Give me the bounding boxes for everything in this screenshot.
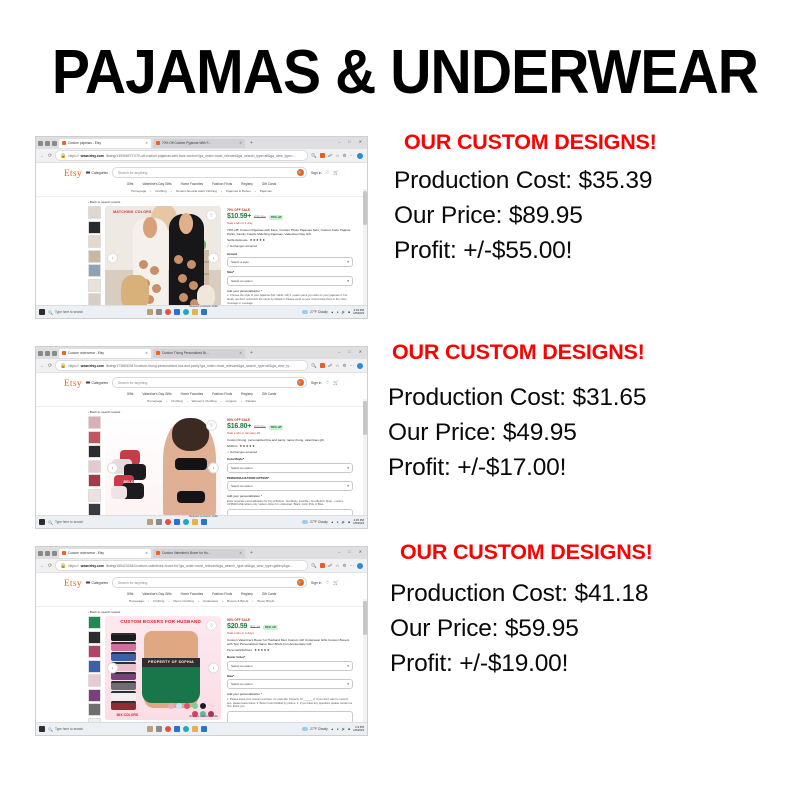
thumbnail[interactable] (88, 221, 101, 234)
volume-icon[interactable]: 🔊 (342, 520, 346, 524)
prev-image-arrow[interactable]: ‹ (107, 663, 118, 674)
more-icon[interactable]: ⋯ (350, 153, 355, 159)
minimize-icon[interactable]: – (338, 349, 342, 354)
nav-item[interactable]: Registry (241, 182, 253, 186)
weather-widget[interactable]: 27°F Cloudy (302, 727, 328, 731)
back-to-results-link[interactable]: ‹ Back to search results (36, 407, 367, 416)
url-domain: www.etsy.com (81, 564, 104, 568)
window-controls[interactable]: – □ ✕ (338, 139, 364, 144)
start-button[interactable] (39, 309, 45, 315)
etsy-page: Etsy Categories Search for anything 🔍 Si… (36, 163, 367, 319)
clock-date: 1/8/2023 (353, 521, 364, 525)
widgets-icon[interactable] (156, 726, 162, 732)
nav-item[interactable]: Valentine's Day Gifts (142, 592, 171, 596)
store-icon[interactable] (174, 309, 180, 315)
breadcrumb-item[interactable]: Clothing (155, 189, 166, 193)
explorer-icon[interactable] (192, 309, 198, 315)
current-price: $16.80+ (227, 423, 251, 430)
sign-in-link[interactable]: Sign in (311, 381, 321, 385)
personalization-label: Add your personalization * (227, 289, 353, 293)
chevron-down-icon: ▾ (347, 664, 349, 668)
search-icon: 🔍 (48, 310, 53, 315)
etsy-logo[interactable]: Etsy (64, 378, 82, 388)
network-icon[interactable]: ● (337, 520, 339, 524)
scrollbar-thumb[interactable] (363, 401, 367, 435)
taskview-icon[interactable] (147, 519, 153, 525)
etsy-favicon (62, 141, 66, 145)
thumbnail-strip[interactable] (88, 416, 99, 529)
collections-icon[interactable]: ☍ (328, 153, 333, 159)
etsy-page: Etsy Categories Search for anything 🔍 Si… (36, 573, 367, 736)
listing-body: BELONGS TO AUSTIN ♡ ‹ › Request a custom… (36, 416, 367, 529)
scrollbar-thumb[interactable] (363, 601, 367, 635)
taskview-icon[interactable] (147, 309, 153, 315)
thumbnail-strip[interactable] (88, 616, 99, 736)
taskbar-search[interactable]: 🔍 Type here to search (48, 727, 144, 732)
option2-select[interactable]: Select an option ▾ (227, 276, 353, 286)
nav-item[interactable]: Registry (241, 592, 253, 596)
system-tray: 27°F Cloudy ▲ ● 🔊 ■ 4:45 PM 1/8/2023 (302, 519, 364, 526)
store-icon[interactable] (174, 726, 180, 732)
search-icon[interactable]: 🔍 (297, 169, 304, 176)
explorer-icon[interactable] (192, 726, 198, 732)
weather-widget[interactable]: 27°F Cloudy (302, 310, 328, 314)
tab-strip: Custom pajamas - Etsy ✕ 70% Off Custom P… (36, 137, 367, 149)
product-title: Custom thong, personalized bra and panty… (227, 438, 353, 442)
battery-icon[interactable]: ■ (348, 727, 350, 731)
split-screen-icon[interactable] (52, 551, 57, 556)
price-row: $16.80+ $33.60+ 50% off (227, 423, 353, 430)
breadcrumb-item[interactable]: Gender-Neutral Adult Clothing (176, 189, 217, 193)
taskbar-search-placeholder: Type here to search (55, 520, 83, 524)
lingerie-scene: BELONGS TO AUSTIN (105, 416, 221, 520)
breadcrumb-item[interactable]: Lingerie (226, 399, 237, 403)
close-window-icon[interactable]: ✕ (359, 139, 364, 144)
etsy-logo[interactable]: Etsy (64, 578, 82, 588)
variant (111, 681, 137, 690)
back-icon[interactable]: ← (40, 563, 45, 569)
profile-avatar[interactable] (357, 563, 363, 569)
taskbar-search[interactable]: 🔍 Type here to search (48, 520, 144, 525)
system-tray: 27°F Cloudy ▲ ● 🔊 ■ 4:33 PM 1/8/2023 (302, 309, 364, 316)
mail-icon[interactable] (201, 309, 207, 315)
thumbnail[interactable] (88, 279, 101, 292)
clock[interactable]: 4:45 PM 1/8/2023 (353, 519, 364, 526)
mail-icon[interactable] (201, 726, 207, 732)
favorite-icon[interactable]: ♡ (206, 210, 217, 221)
breadcrumb-item[interactable]: Women's Clothing (192, 399, 217, 403)
custom-face (179, 213, 193, 234)
settings-icon[interactable]: ⚙ (342, 363, 346, 369)
tab-search-icon[interactable] (45, 351, 50, 356)
nav-item[interactable]: Registry (241, 392, 253, 396)
discount-badge: 70% off (269, 215, 284, 220)
battery-icon[interactable]: ■ (348, 310, 350, 314)
network-icon[interactable]: ● (337, 310, 339, 314)
battery-icon[interactable]: ■ (348, 520, 350, 524)
prev-image-arrow[interactable]: ‹ (107, 463, 118, 474)
request-custom-order-link[interactable]: Request a custom order (189, 715, 218, 718)
tab-search-icon[interactable] (45, 551, 50, 556)
tab-label: Custom underwear - Etsy (68, 351, 104, 355)
store-icon[interactable] (174, 519, 180, 525)
maximize-icon[interactable]: □ (348, 349, 352, 354)
close-icon[interactable]: ✕ (239, 551, 242, 555)
pajama-scene: MATCHING COLORS (105, 206, 221, 310)
thumbnail[interactable] (88, 460, 101, 473)
buy-box: 50% OFF SALE $16.80+ $33.60+ 50% off Sal… (227, 416, 353, 529)
breadcrumb-item[interactable]: Panties (246, 399, 256, 403)
rating-stars: ★★★★★ (240, 444, 256, 448)
taskview-icon[interactable] (147, 726, 153, 732)
etsy-favicon (156, 141, 160, 145)
breadcrumb-item[interactable]: Clothing (153, 599, 164, 603)
window-controls[interactable]: – □ ✕ (338, 549, 364, 554)
back-icon[interactable]: ← (40, 363, 45, 369)
settings-icon[interactable]: ⚙ (342, 563, 346, 569)
settings-icon[interactable]: ⚙ (342, 153, 346, 159)
new-tab-button[interactable]: + (250, 350, 253, 356)
thumbnail[interactable] (88, 689, 101, 702)
zoom-icon[interactable]: 🔍 (311, 363, 317, 369)
shop-row: SetSmileHouse ★★★★★ (227, 238, 353, 242)
shop-row: NMFirst ★★★★★ (227, 444, 353, 448)
tab-actions-icon[interactable] (38, 551, 43, 556)
favorites-icon[interactable]: ♡ (325, 580, 329, 586)
explorer-icon[interactable] (192, 519, 198, 525)
prev-image-arrow[interactable]: ‹ (107, 253, 118, 264)
page-scrollbar[interactable] (363, 189, 367, 319)
exchanges-note: ✓ Exchanges accepted (227, 244, 353, 248)
tab-label: Custom Valentine's Boxer for Hu... (162, 551, 211, 555)
tab-label: 70% Off Custom Pyjamas With F... (162, 141, 211, 145)
next-image-arrow[interactable]: › (208, 253, 219, 264)
nav-item[interactable]: Gift Cards (262, 592, 276, 596)
boxer-scene: CUSTOM BOXERS FOR HUSBAND (105, 616, 221, 720)
tab-inactive[interactable]: Custom Valentine's Boxer for Hu... ✕ (153, 549, 245, 558)
cloud-icon (302, 727, 308, 731)
rating-stars: ★★★★★ (254, 648, 270, 652)
nav-item[interactable]: Fashion Finds (212, 592, 232, 596)
profile-avatar[interactable] (357, 363, 363, 369)
search-icon: 🔍 (48, 520, 53, 525)
search-input[interactable]: Search for anything 🔍 (112, 167, 307, 178)
start-button[interactable] (39, 519, 45, 525)
chrome-icon[interactable] (165, 309, 171, 315)
etsy-nav: Gifts Valentine's Day Gifts Home Favorit… (36, 590, 367, 597)
cart-icon[interactable]: 🛒 (333, 170, 339, 176)
address-bar: ← ⟳ 🔒 https:// www.etsy.com /listing/165… (36, 559, 367, 573)
clock-date: 1/8/2023 (353, 311, 364, 315)
thumbnail[interactable] (88, 631, 101, 644)
shop-name[interactable]: PersonalGiftsStore (227, 648, 252, 652)
edge-icon[interactable] (183, 726, 189, 732)
edge-icon[interactable] (183, 519, 189, 525)
nav-item[interactable]: Fashion Finds (212, 392, 232, 396)
breadcrumb-item[interactable]: Homepage (131, 189, 146, 193)
thumbnail[interactable] (88, 474, 101, 487)
categories-button[interactable]: Categories (86, 171, 108, 175)
search-input[interactable]: Search for anything 🔍 (112, 377, 307, 388)
more-icon[interactable]: ⋯ (350, 563, 355, 569)
more-icon[interactable]: ⋯ (350, 363, 355, 369)
categories-button[interactable]: Categories (86, 381, 108, 385)
close-icon[interactable]: ✕ (145, 141, 148, 145)
back-to-results-link[interactable]: ‹ Back to search results (36, 607, 367, 616)
breadcrumb-item[interactable]: Pajamas (260, 189, 272, 193)
close-icon[interactable]: ✕ (145, 351, 148, 355)
thumbnail[interactable] (88, 235, 101, 248)
search-icon: 🔍 (48, 727, 53, 732)
close-icon[interactable]: ✕ (239, 141, 242, 145)
close-icon[interactable]: ✕ (239, 351, 242, 355)
cloud-icon (302, 520, 308, 524)
thumbnail[interactable] (88, 264, 101, 277)
tab-inactive[interactable]: Custom Thong Personalized Br... ✕ (153, 349, 245, 358)
breadcrumb-item[interactable]: Pajamas & Robes (226, 189, 251, 193)
breadcrumb-item[interactable]: Underwear (203, 599, 218, 603)
close-window-icon[interactable]: ✕ (359, 349, 364, 354)
breadcrumb-item[interactable]: Homepage (147, 399, 162, 403)
option1-select[interactable]: Select an option ▾ (227, 661, 353, 671)
headline: OUR CUSTOM DESIGNS! (388, 340, 788, 364)
search-placeholder: Search for anything (118, 381, 147, 385)
product-hero-image[interactable]: CUSTOM BOXERS FOR HUSBAND (105, 616, 221, 720)
nav-item[interactable]: Home Favorites (181, 592, 204, 596)
system-tray: 27°F Cloudy ▲ ● 🔊 ■ 1:9 PM 1/8/2023 (302, 726, 364, 733)
sale-tag: 70% OFF SALE (227, 208, 353, 212)
volume-icon[interactable]: 🔊 (342, 310, 346, 314)
product-hero-image[interactable]: MATCHING COLORS ♡ ‹ › Request a custom o… (105, 206, 221, 310)
tab-inactive[interactable]: 70% Off Custom Pyjamas With F... ✕ (153, 139, 245, 148)
url-input[interactable]: 🔒 https:// www.etsy.com /listing/1654232… (55, 560, 308, 571)
extensions-icon[interactable] (320, 153, 325, 158)
tray-expand-icon[interactable]: ▲ (331, 310, 334, 314)
split-screen-icon[interactable] (52, 351, 57, 356)
search-input[interactable]: Search for anything 🔍 (112, 577, 307, 588)
chrome-icon[interactable] (165, 726, 171, 732)
etsy-nav: Gifts Valentine's Day Gifts Home Favorit… (36, 390, 367, 397)
minimize-icon[interactable]: – (338, 549, 342, 554)
widgets-icon[interactable] (156, 309, 162, 315)
clock[interactable]: 1:9 PM 1/8/2023 (353, 726, 364, 733)
reload-icon[interactable]: ⟳ (48, 363, 52, 369)
option1-label: Boxer Color* (227, 655, 353, 659)
window-controls[interactable]: – □ ✕ (338, 349, 364, 354)
address-bar: ← ⟳ 🔒 https:// www.etsy.com /listing/173… (36, 359, 367, 373)
clock[interactable]: 4:33 PM 1/8/2023 (353, 309, 364, 316)
etsy-favicon (62, 351, 66, 355)
text-block-1: OUR CUSTOM DESIGNS! Production Cost: $35… (388, 130, 788, 268)
mix-colors-text: MIX COLORS (117, 714, 138, 718)
maximize-icon[interactable]: □ (348, 139, 352, 144)
thumbnail-strip[interactable] (88, 206, 99, 319)
network-icon[interactable]: ● (337, 727, 339, 731)
address-bar: ← ⟳ 🔒 https:// www.etsy.com /listing/139… (36, 149, 367, 163)
listing-body: MATCHING COLORS ♡ ‹ › Request a custom o… (36, 206, 367, 319)
next-image-arrow[interactable]: › (208, 663, 219, 674)
close-window-icon[interactable]: ✕ (359, 549, 364, 554)
taskbar-search-placeholder: Type here to search (55, 727, 83, 731)
request-custom-order-link[interactable]: Request a custom order (189, 515, 218, 518)
tab-actions-icon[interactable] (38, 351, 43, 356)
extensions-icon[interactable] (320, 563, 325, 568)
favorite-icon[interactable]: ♡ (206, 420, 217, 431)
favorite-icon[interactable]: ☆ (335, 363, 339, 369)
nav-item[interactable]: Home Favorites (181, 182, 204, 186)
hero-banner-text: BELONGS TO AUSTIN (124, 480, 163, 485)
shop-name[interactable]: SetSmileHouse (227, 238, 248, 242)
personalization-help: 1. Choose the style of your pajamas (kid… (227, 294, 353, 305)
tray-expand-icon[interactable]: ▲ (331, 727, 334, 731)
nav-item[interactable]: Gift Cards (262, 392, 276, 396)
minimize-icon[interactable]: – (338, 139, 342, 144)
nav-item[interactable]: Valentine's Day Gifts (142, 182, 171, 186)
tab-active[interactable]: Custom pajamas - Etsy ✕ (59, 139, 151, 148)
taskbar-search-placeholder: Type here to search (55, 310, 83, 314)
option1-select[interactable]: Select a style ▾ (227, 257, 353, 267)
breadcrumb-item[interactable]: Clothing (171, 399, 182, 403)
url-path: /listing/1393069717/70-off-custom-pajama… (106, 154, 296, 158)
option2-label: Size* (227, 674, 353, 678)
search-icon[interactable]: 🔍 (297, 579, 304, 586)
option1-select[interactable]: Select an option ▾ (227, 463, 353, 473)
breadcrumb-item[interactable]: Boxers & Briefs (227, 599, 248, 603)
buy-box: 70% OFF SALE $10.59+ $35.30+ 70% off Sal… (227, 206, 353, 319)
profile-avatar[interactable] (357, 153, 363, 159)
breadcrumb-item[interactable]: Boxer Briefs (257, 599, 274, 603)
cart-icon[interactable]: 🛒 (333, 580, 339, 586)
reload-icon[interactable]: ⟳ (48, 153, 52, 159)
cart-icon[interactable]: 🛒 (333, 380, 339, 386)
browser-window-2: Custom underwear - Etsy ✕ Custom Thong P… (35, 346, 368, 529)
breadcrumb-item[interactable]: Men's Clothing (173, 599, 193, 603)
nav-item[interactable]: Gifts (127, 392, 134, 396)
chrome-icon[interactable] (165, 519, 171, 525)
new-tab-button[interactable]: + (250, 140, 253, 146)
collections-icon[interactable]: ☍ (328, 363, 333, 369)
product-title: Custom Valentine's Boxer for Husband Men… (227, 638, 353, 647)
tab-actions-icon[interactable] (38, 141, 43, 146)
split-screen-icon[interactable] (52, 141, 57, 146)
reload-icon[interactable]: ⟳ (48, 563, 52, 569)
sign-in-link[interactable]: Sign in (311, 171, 321, 175)
etsy-logo[interactable]: Etsy (64, 168, 82, 178)
categories-button[interactable]: Categories (86, 581, 108, 585)
model-hair (172, 418, 209, 451)
exchanges-note: ✓ Exchanges accepted (227, 450, 353, 454)
page-scrollbar[interactable] (363, 599, 367, 736)
back-to-results-link[interactable]: ‹ Back to search results (36, 197, 367, 206)
request-custom-order-link[interactable]: Request a custom order (189, 305, 218, 308)
breadcrumb-item[interactable]: Homepage (129, 599, 144, 603)
back-icon[interactable]: ← (40, 153, 45, 159)
thumbnail[interactable] (88, 416, 101, 429)
option2-select[interactable]: Select an option ▾ (227, 481, 353, 491)
thumbnail[interactable] (88, 660, 101, 673)
custom-face (143, 217, 157, 237)
categories-label: Categories (92, 171, 108, 175)
thumbnail[interactable] (88, 616, 101, 629)
product-hero-image[interactable]: BELONGS TO AUSTIN ♡ ‹ › Request a custom… (105, 416, 221, 520)
tab-strip: Custom underwear - Etsy ✕ Custom Thong P… (36, 347, 367, 359)
thumbnail[interactable] (88, 431, 101, 444)
sale-ends-text: Sale ends in 4 days (227, 631, 353, 635)
favorite-icon[interactable]: ☆ (335, 563, 339, 569)
weather-text: 27°F Cloudy (310, 310, 328, 314)
sale-tag: 50% OFF SALE (227, 418, 353, 422)
tab-search-icon[interactable] (45, 141, 50, 146)
shop-name[interactable]: NMFirst (227, 444, 238, 448)
nav-item[interactable]: Home Favorites (181, 392, 204, 396)
profit: Profit: +/-$55.00! (394, 233, 788, 268)
next-image-arrow[interactable]: › (208, 463, 219, 474)
start-button[interactable] (39, 726, 45, 732)
headline: OUR CUSTOM DESIGNS! (388, 130, 788, 154)
thumbnail[interactable] (88, 645, 101, 658)
url-input[interactable]: 🔒 https:// www.etsy.com /listing/1393069… (55, 150, 308, 161)
nav-item[interactable]: Fashion Finds (212, 182, 232, 186)
zoom-icon[interactable]: 🔍 (311, 563, 317, 569)
lock-icon: 🔒 (60, 363, 66, 369)
sign-in-link[interactable]: Sign in (311, 581, 321, 585)
browser-window-3: Custom underwear - Etsy ✕ Custom Valenti… (35, 546, 368, 736)
nav-item[interactable]: Valentine's Day Gifts (142, 392, 171, 396)
favorites-icon[interactable]: ♡ (325, 380, 329, 386)
nav-item[interactable]: Gift Cards (262, 182, 276, 186)
nav-item[interactable]: Gifts (127, 592, 134, 596)
option2-select[interactable]: Select an option ▾ (227, 679, 353, 689)
favorite-icon[interactable]: ☆ (335, 153, 339, 159)
nav-item[interactable]: Gifts (127, 182, 134, 186)
mail-icon[interactable] (201, 519, 207, 525)
scrollbar-thumb[interactable] (363, 191, 367, 225)
widgets-icon[interactable] (156, 519, 162, 525)
close-icon[interactable]: ✕ (145, 551, 148, 555)
favorites-icon[interactable]: ♡ (325, 170, 329, 176)
production-cost: Production Cost: $41.18 (390, 576, 788, 611)
edge-icon[interactable] (183, 309, 189, 315)
price-lines: Production Cost: $35.39 Our Price: $89.9… (388, 163, 788, 268)
taskbar-search[interactable]: 🔍 Type here to search (48, 310, 144, 315)
personalization-help: 1. Please leave your custom text here, f… (227, 698, 353, 709)
thumbnail[interactable] (88, 445, 101, 458)
zoom-icon[interactable]: 🔍 (311, 153, 317, 159)
thumbnail[interactable] (88, 674, 101, 687)
volume-icon[interactable]: 🔊 (342, 727, 346, 731)
thumbnail[interactable] (88, 703, 101, 716)
maximize-icon[interactable]: □ (348, 549, 352, 554)
thumbnail[interactable] (88, 489, 101, 502)
new-tab-button[interactable]: + (250, 550, 253, 556)
variant (111, 652, 137, 661)
page-scrollbar[interactable] (363, 399, 367, 529)
weather-widget[interactable]: 27°F Cloudy (302, 520, 328, 524)
url-input[interactable]: 🔒 https:// www.etsy.com /listing/1736630… (55, 360, 308, 371)
sale-tag: 50% OFF SALE (227, 618, 353, 622)
extensions-icon[interactable] (320, 363, 325, 368)
windows-taskbar: 🔍 Type here to search 27°F Cloudy ▲ ● (36, 722, 367, 735)
personalization-label: Add your personalization * (227, 692, 353, 696)
thumbnail[interactable] (88, 250, 101, 263)
thumbnail[interactable] (88, 206, 101, 219)
breadcrumb: Homepage› Clothing› Women's Clothing› Li… (36, 397, 367, 407)
tab-active[interactable]: Custom underwear - Etsy ✕ (59, 549, 151, 558)
search-icon[interactable]: 🔍 (297, 379, 304, 386)
tray-expand-icon[interactable]: ▲ (331, 520, 334, 524)
tab-active[interactable]: Custom underwear - Etsy ✕ (59, 349, 151, 358)
collections-icon[interactable]: ☍ (328, 563, 333, 569)
